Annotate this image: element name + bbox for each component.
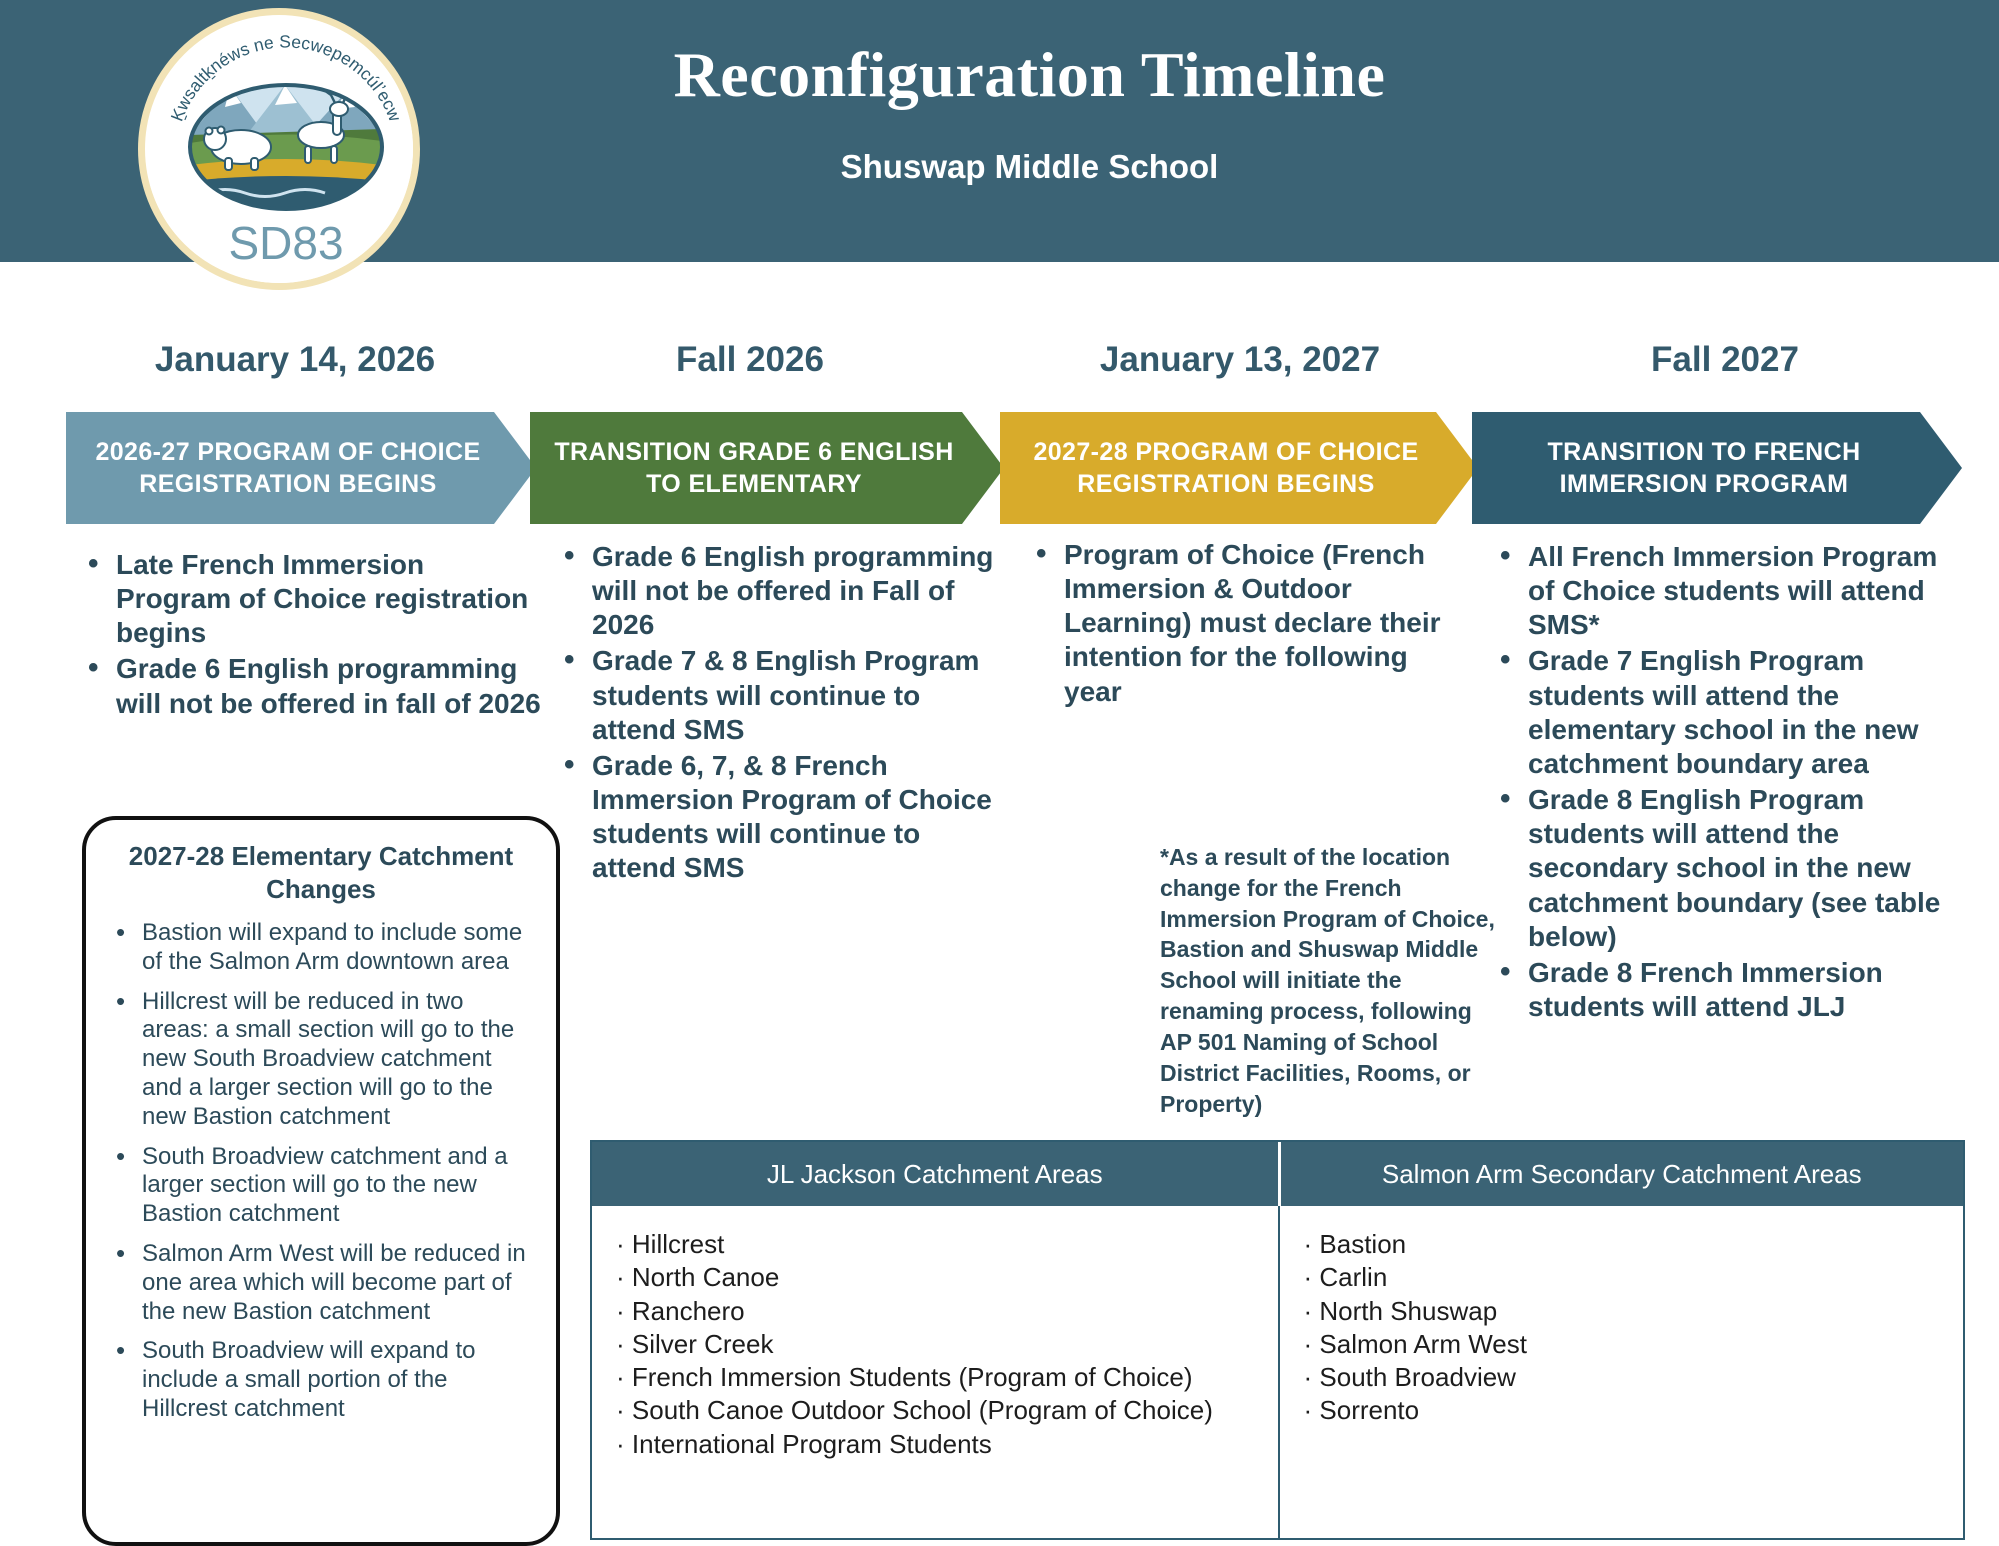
table-column-header-jl-jackson: JL Jackson Catchment Areas — [592, 1142, 1278, 1206]
catchment-changes-box: 2027-28 Elementary Catchment Changes Bas… — [82, 816, 560, 1546]
catchment-box-title: 2027-28 Elementary Catchment Changes — [106, 840, 536, 905]
list-item: Program of Choice (French Immersion & Ou… — [1064, 538, 1470, 709]
jl-jackson-area-list: Hillcrest North Canoe Ranchero Silver Cr… — [616, 1228, 1260, 1461]
list-item: All French Immersion Program of Choice s… — [1528, 540, 1962, 642]
list-item: South Broadview — [1304, 1361, 1946, 1394]
list-item: North Canoe — [616, 1261, 1260, 1294]
list-item: Grade 7 & 8 English Program students wil… — [592, 644, 1010, 746]
phase-date-1: January 14, 2026 — [60, 340, 530, 380]
list-item: Grade 6, 7, & 8 French Immersion Program… — [592, 749, 1010, 886]
list-item: Grade 6 English programming will not be … — [592, 540, 1010, 642]
list-item: Hillcrest will be reduced in two areas: … — [142, 988, 536, 1132]
salmon-arm-secondary-area-list: Bastion Carlin North Shuswap Salmon Arm … — [1304, 1228, 1946, 1428]
phase-banner-4: TRANSITION TO FRENCH IMMERSION PROGRAM — [1472, 412, 1962, 524]
phase-date-3: January 13, 2027 — [1000, 340, 1480, 380]
catchment-areas-table: JL Jackson Catchment Areas Salmon Arm Se… — [590, 1140, 1965, 1540]
list-item: Bastion — [1304, 1228, 1946, 1261]
list-item: North Shuswap — [1304, 1295, 1946, 1328]
phase-content-4: All French Immersion Program of Choice s… — [1484, 540, 1962, 1026]
list-item: French Immersion Students (Program of Ch… — [616, 1361, 1260, 1394]
list-item: Grade 7 English Program students will at… — [1528, 644, 1962, 781]
list-item: Sorrento — [1304, 1394, 1946, 1427]
table-cell-jl-jackson-areas: Hillcrest North Canoe Ranchero Silver Cr… — [592, 1206, 1278, 1538]
list-item: International Program Students — [616, 1428, 1260, 1461]
list-item: Ranchero — [616, 1295, 1260, 1328]
table-body: Hillcrest North Canoe Ranchero Silver Cr… — [592, 1206, 1963, 1538]
list-item: Hillcrest — [616, 1228, 1260, 1261]
phase-banner-label-1: 2026-27 PROGRAM OF CHOICE REGISTRATION B… — [66, 436, 536, 500]
table-cell-salmon-arm-secondary-areas: Bastion Carlin North Shuswap Salmon Arm … — [1278, 1206, 1964, 1538]
table-column-header-salmon-arm-secondary: Salmon Arm Secondary Catchment Areas — [1278, 1142, 1964, 1206]
phase-banner-1: 2026-27 PROGRAM OF CHOICE REGISTRATION B… — [66, 412, 536, 524]
phase-date-2: Fall 2026 — [540, 340, 960, 380]
phase-content-1: Late French Immersion Program of Choice … — [72, 548, 542, 723]
timeline-dates-row: January 14, 2026 Fall 2026 January 13, 2… — [0, 340, 1999, 400]
list-item: Grade 8 English Program students will at… — [1528, 783, 1962, 954]
phase-banner-label-4: TRANSITION TO FRENCH IMMERSION PROGRAM — [1472, 436, 1962, 500]
phase-bullet-list-2: Grade 6 English programming will not be … — [548, 540, 1010, 886]
phase-banner-3: 2027-28 PROGRAM OF CHOICE REGISTRATION B… — [1000, 412, 1478, 524]
list-item: Carlin — [1304, 1261, 1946, 1294]
phase-content-3: Program of Choice (French Immersion & Ou… — [1020, 538, 1470, 711]
list-item: Bastion will expand to include some of t… — [142, 919, 536, 977]
phase-bullet-list-4: All French Immersion Program of Choice s… — [1484, 540, 1962, 1024]
phase-banner-2: TRANSITION GRADE 6 ENGLISH TO ELEMENTARY — [530, 412, 1004, 524]
sd83-crest-logo: Ḵwsaltḵnéws ne Secwepemcúlʼecw SD83 — [138, 8, 420, 290]
phase-date-4: Fall 2027 — [1490, 340, 1960, 380]
phase-bullet-list-1: Late French Immersion Program of Choice … — [72, 548, 542, 721]
list-item: Salmon Arm West — [1304, 1328, 1946, 1361]
list-item: South Canoe Outdoor School (Program of C… — [616, 1394, 1260, 1427]
phase-content-2: Grade 6 English programming will not be … — [548, 540, 1010, 888]
phase-bullet-list-3: Program of Choice (French Immersion & Ou… — [1020, 538, 1470, 709]
phase-banner-label-2: TRANSITION GRADE 6 ENGLISH TO ELEMENTARY — [530, 436, 1004, 500]
catchment-change-list: Bastion will expand to include some of t… — [106, 919, 536, 1424]
table-header-row: JL Jackson Catchment Areas Salmon Arm Se… — [592, 1142, 1963, 1206]
list-item: Salmon Arm West will be reduced in one a… — [142, 1240, 536, 1326]
list-item: South Broadview will expand to include a… — [142, 1337, 536, 1423]
list-item: Grade 6 English programming will not be … — [116, 652, 542, 720]
list-item: Late French Immersion Program of Choice … — [116, 548, 542, 650]
list-item: South Broadview catchment and a larger s… — [142, 1143, 536, 1229]
list-item: Silver Creek — [616, 1328, 1260, 1361]
list-item: Grade 8 French Immersion students will a… — [1528, 956, 1962, 1024]
sd83-crest-icon: Ḵwsaltḵnéws ne Secwepemcúlʼecw SD83 — [145, 15, 420, 290]
logo-abbrev: SD83 — [228, 217, 343, 269]
footnote-text: *As a result of the location change for … — [1160, 842, 1500, 1119]
phase-banner-label-3: 2027-28 PROGRAM OF CHOICE REGISTRATION B… — [1000, 436, 1478, 500]
